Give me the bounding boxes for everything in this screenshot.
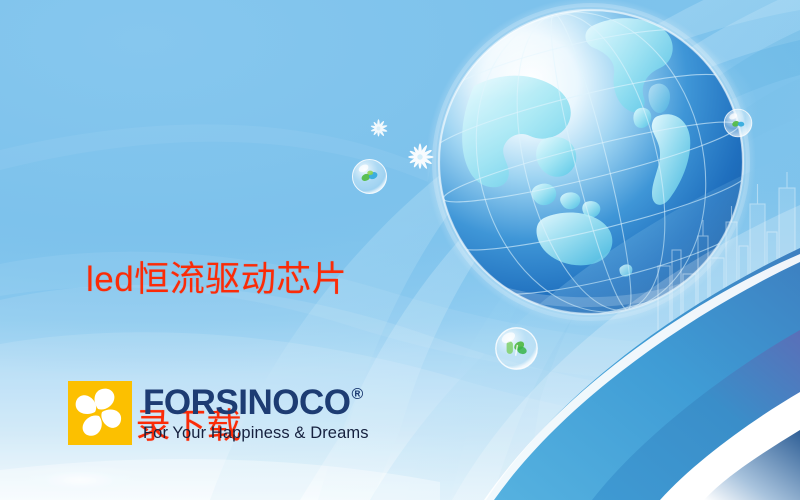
registered-trademark-icon: ® (351, 387, 362, 403)
logo-tagline: For Your Happiness & Dreams (143, 425, 369, 442)
logo-text-block: FORSINOCO® For Your Happiness & Dreams (143, 385, 369, 442)
page-title: led恒流驱动芯片 目录下载 (86, 163, 347, 500)
logo-company-word: FORSINOCO (143, 385, 350, 420)
bubble-eco-icon (723, 108, 753, 138)
bubble-eco-icon (494, 326, 539, 371)
bubble-eco-icon (351, 158, 388, 195)
pinwheel-flower-icon (68, 381, 132, 445)
logo-company-name: FORSINOCO® (143, 385, 369, 420)
sparkle-small-icon (367, 117, 390, 140)
promotional-banner: led恒流驱动芯片 目录下载 FORSINOCO® For Your Happi… (0, 0, 800, 500)
sparkle-icon (403, 140, 437, 174)
headline-line-1: led恒流驱动芯片 (86, 257, 347, 304)
company-logo[interactable]: FORSINOCO® For Your Happiness & Dreams (68, 381, 369, 445)
